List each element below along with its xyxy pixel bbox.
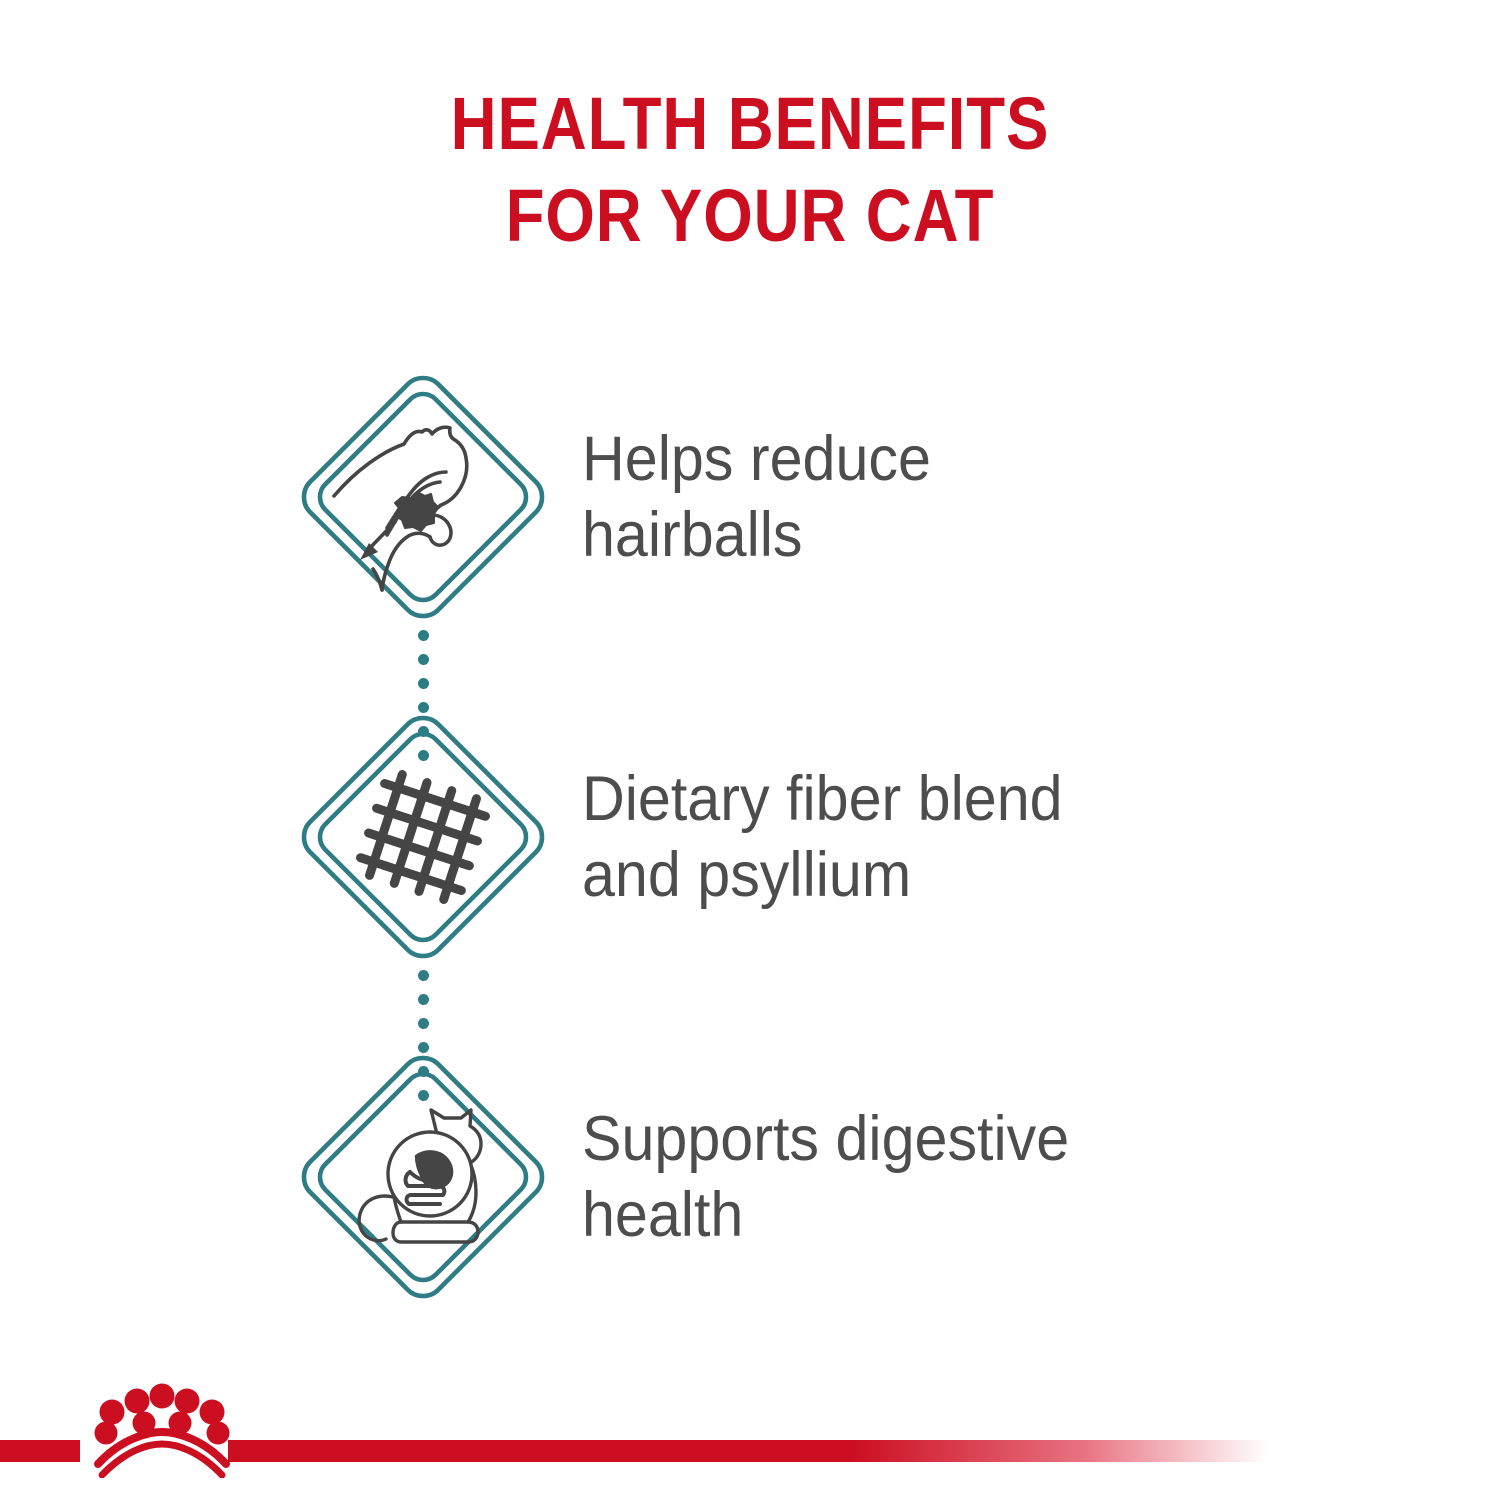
royal-canin-crown-logo (86, 1382, 238, 1478)
connector-dot (418, 678, 429, 689)
connector-dot (418, 970, 429, 981)
connector-dot (418, 654, 429, 665)
footer-rule-left (0, 1440, 80, 1462)
benefit-label-line-2: hairballs (582, 497, 1325, 573)
benefit-item-fiber: Dietary fiber blend and psyllium (0, 712, 1500, 962)
benefit-label-line-2: health (582, 1177, 1325, 1253)
page-title-line-2: FOR YOUR CAT (105, 170, 1395, 262)
cat-hairball-icon (298, 372, 548, 622)
connector-dot (418, 630, 429, 641)
benefit-item-digestive: Supports digestive health (0, 1052, 1500, 1302)
page-title: HEALTH BENEFITS FOR YOUR CAT (0, 78, 1500, 262)
connector-dot (418, 994, 429, 1005)
connector-dots-2 (0, 962, 1500, 1052)
cat-digestive-health-icon (298, 1052, 548, 1302)
connector-dot (418, 1018, 429, 1029)
benefit-label-line-1: Supports digestive (582, 1101, 1325, 1177)
footer-rule-right (228, 1440, 1268, 1462)
benefit-item-hairballs: Helps reduce hairballs (0, 372, 1500, 622)
benefit-label-hairballs: Helps reduce hairballs (582, 421, 1372, 573)
benefit-label-digestive: Supports digestive health (582, 1101, 1372, 1253)
page-title-line-1: HEALTH BENEFITS (105, 78, 1395, 170)
fiber-mesh-icon (298, 712, 548, 962)
benefit-label-line-2: and psyllium (582, 837, 1325, 913)
footer (0, 1380, 1500, 1500)
benefit-label-line-1: Dietary fiber blend (582, 761, 1325, 837)
benefits-list: Helps reduce hairballs (0, 372, 1500, 1302)
connector-dots-1 (0, 622, 1500, 712)
benefit-label-fiber: Dietary fiber blend and psyllium (582, 761, 1372, 913)
benefit-label-line-1: Helps reduce (582, 421, 1325, 497)
